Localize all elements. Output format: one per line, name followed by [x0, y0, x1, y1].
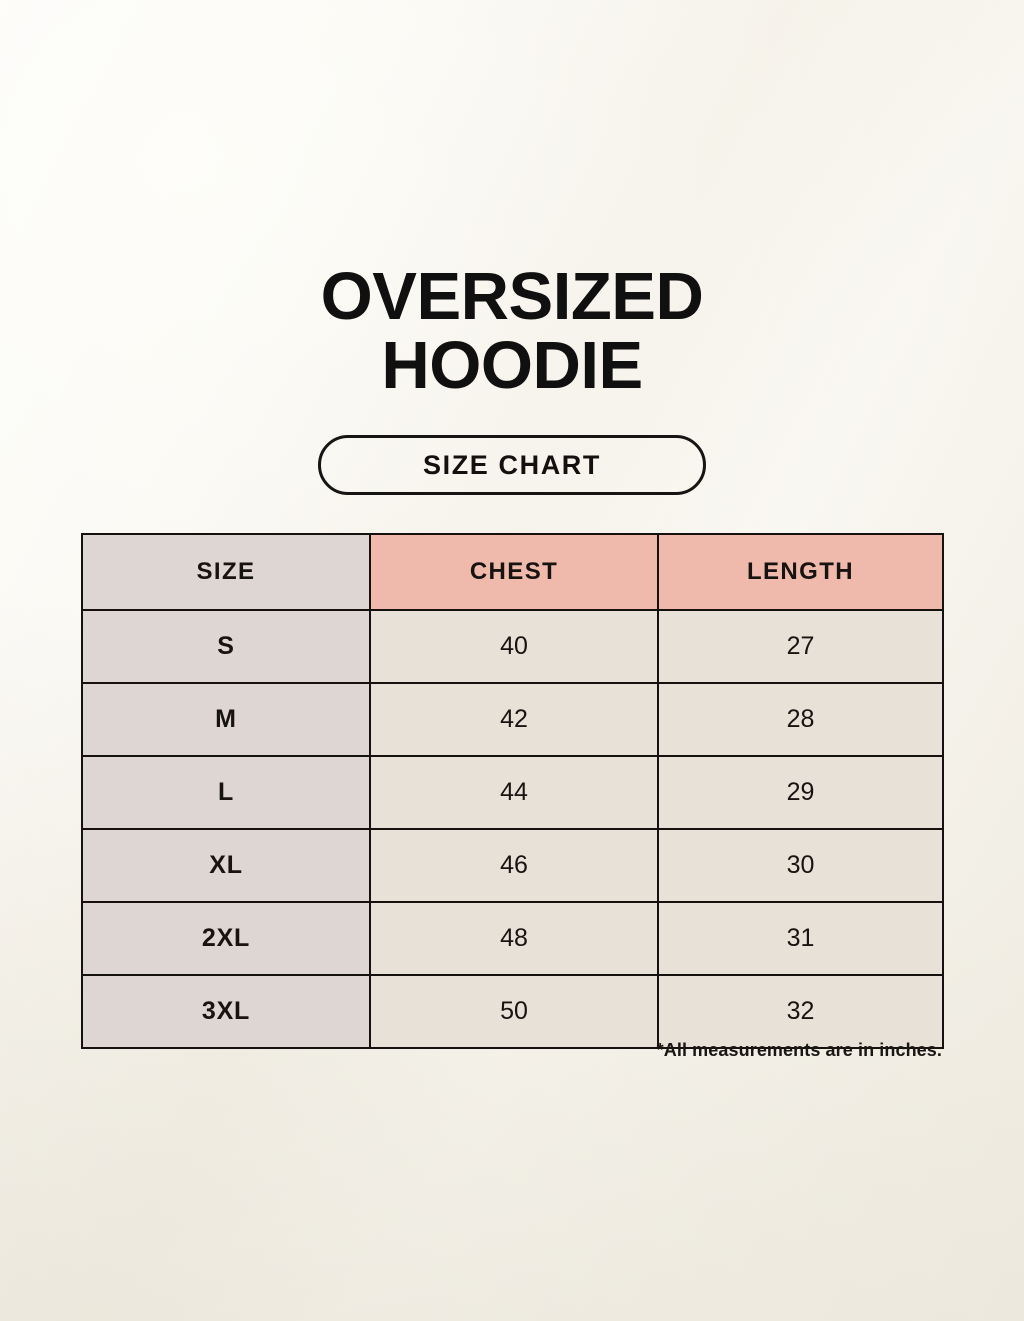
cell-length: 28 [658, 683, 943, 756]
table-header-row: SIZE CHEST LENGTH [82, 534, 943, 610]
title-line-1: OVERSIZED [0, 262, 1024, 331]
table-row: M 42 28 [82, 683, 943, 756]
title-line-2: HOODIE [0, 331, 1024, 400]
cell-length: 32 [658, 975, 943, 1048]
cell-size: 3XL [82, 975, 370, 1048]
cell-length: 30 [658, 829, 943, 902]
size-chart-badge: SIZE CHART [318, 435, 706, 495]
table-row: 3XL 50 32 [82, 975, 943, 1048]
table-row: 2XL 48 31 [82, 902, 943, 975]
cell-chest: 40 [370, 610, 658, 683]
table-row: XL 46 30 [82, 829, 943, 902]
cell-chest: 48 [370, 902, 658, 975]
cell-size: 2XL [82, 902, 370, 975]
table-row: L 44 29 [82, 756, 943, 829]
cell-length: 31 [658, 902, 943, 975]
cell-chest: 42 [370, 683, 658, 756]
column-header-length: LENGTH [658, 534, 943, 610]
cell-size: S [82, 610, 370, 683]
cell-size: XL [82, 829, 370, 902]
cell-size: M [82, 683, 370, 756]
table-row: S 40 27 [82, 610, 943, 683]
size-chart-table: SIZE CHEST LENGTH S 40 27 M 42 28 L 44 2… [81, 533, 944, 1049]
cell-size: L [82, 756, 370, 829]
cell-length: 27 [658, 610, 943, 683]
cell-length: 29 [658, 756, 943, 829]
cell-chest: 44 [370, 756, 658, 829]
cell-chest: 50 [370, 975, 658, 1048]
size-chart-sheet: OVERSIZED HOODIE SIZE CHART SIZE CHEST L… [0, 0, 1024, 1321]
column-header-chest: CHEST [370, 534, 658, 610]
column-header-size: SIZE [82, 534, 370, 610]
measurements-footnote: *All measurements are in inches. [81, 1040, 942, 1061]
size-chart-badge-label: SIZE CHART [423, 450, 601, 481]
page-title: OVERSIZED HOODIE [0, 262, 1024, 400]
cell-chest: 46 [370, 829, 658, 902]
